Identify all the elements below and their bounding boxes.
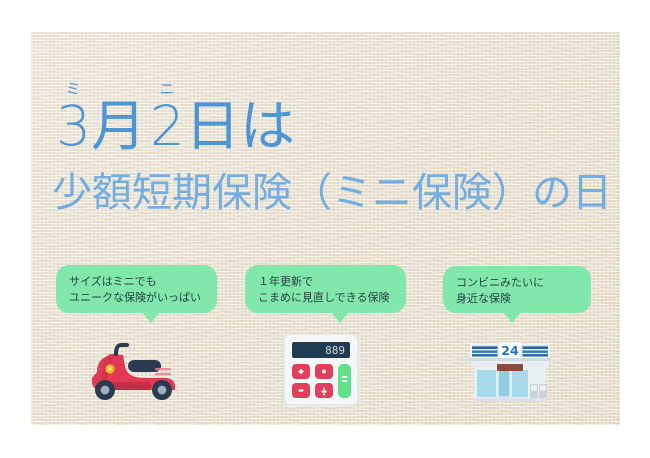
bubble-2-line-1: １年更新で <box>258 274 393 290</box>
store-sign-text: 24 <box>501 343 519 358</box>
bubble-3-line-1: コンビニみたいに <box>456 275 578 291</box>
bubble-1-tail <box>142 312 160 323</box>
bubble-3-tail <box>503 312 521 323</box>
page-subtitle: 少額短期保険（ミニ保険）の日 <box>52 172 612 214</box>
headline-char-gatsu: 月 <box>91 100 146 154</box>
bubble-2-line-2: こまめに見直しできる保険 <box>258 290 393 306</box>
bubble-1-line-1: サイズはミニでも <box>69 274 204 290</box>
poster-root: ミ 3 月 ニ 2 日 は 少額短期保険（ミニ保険）の日 サイズはミニでも ユニ… <box>0 0 650 458</box>
headline-char-3: 3 <box>56 100 91 154</box>
bubble-3-line-2: 身近な保険 <box>456 291 578 307</box>
headline-row: ミ 3 月 ニ 2 日 は <box>56 80 596 154</box>
bubble-1-line-2: ユニークな保険がいっぱい <box>69 290 204 306</box>
headline-char-2: 2 <box>150 100 185 154</box>
speech-bubble-scooter: サイズはミニでも ユニークな保険がいっぱい <box>56 265 217 313</box>
calculator-display-value: 889 <box>325 344 345 357</box>
speech-bubble-store: コンビニみたいに 身近な保険 <box>443 266 591 313</box>
ruby-group-ni: ニ 2 <box>150 82 185 154</box>
ruby-group-mi: ミ 3 <box>56 82 91 154</box>
convenience-store-icon: 24 <box>462 334 558 408</box>
calculator-icon: 889 <box>281 332 361 408</box>
page-title: ミ 3 月 ニ 2 日 は <box>56 80 596 154</box>
scooter-icon <box>79 336 183 406</box>
bubble-2-tail <box>331 312 349 323</box>
headline-char-nichi: 日 <box>185 100 240 154</box>
headline-char-wa: は <box>240 100 295 154</box>
speech-bubble-calculator: １年更新で こまめに見直しできる保険 <box>245 265 406 313</box>
